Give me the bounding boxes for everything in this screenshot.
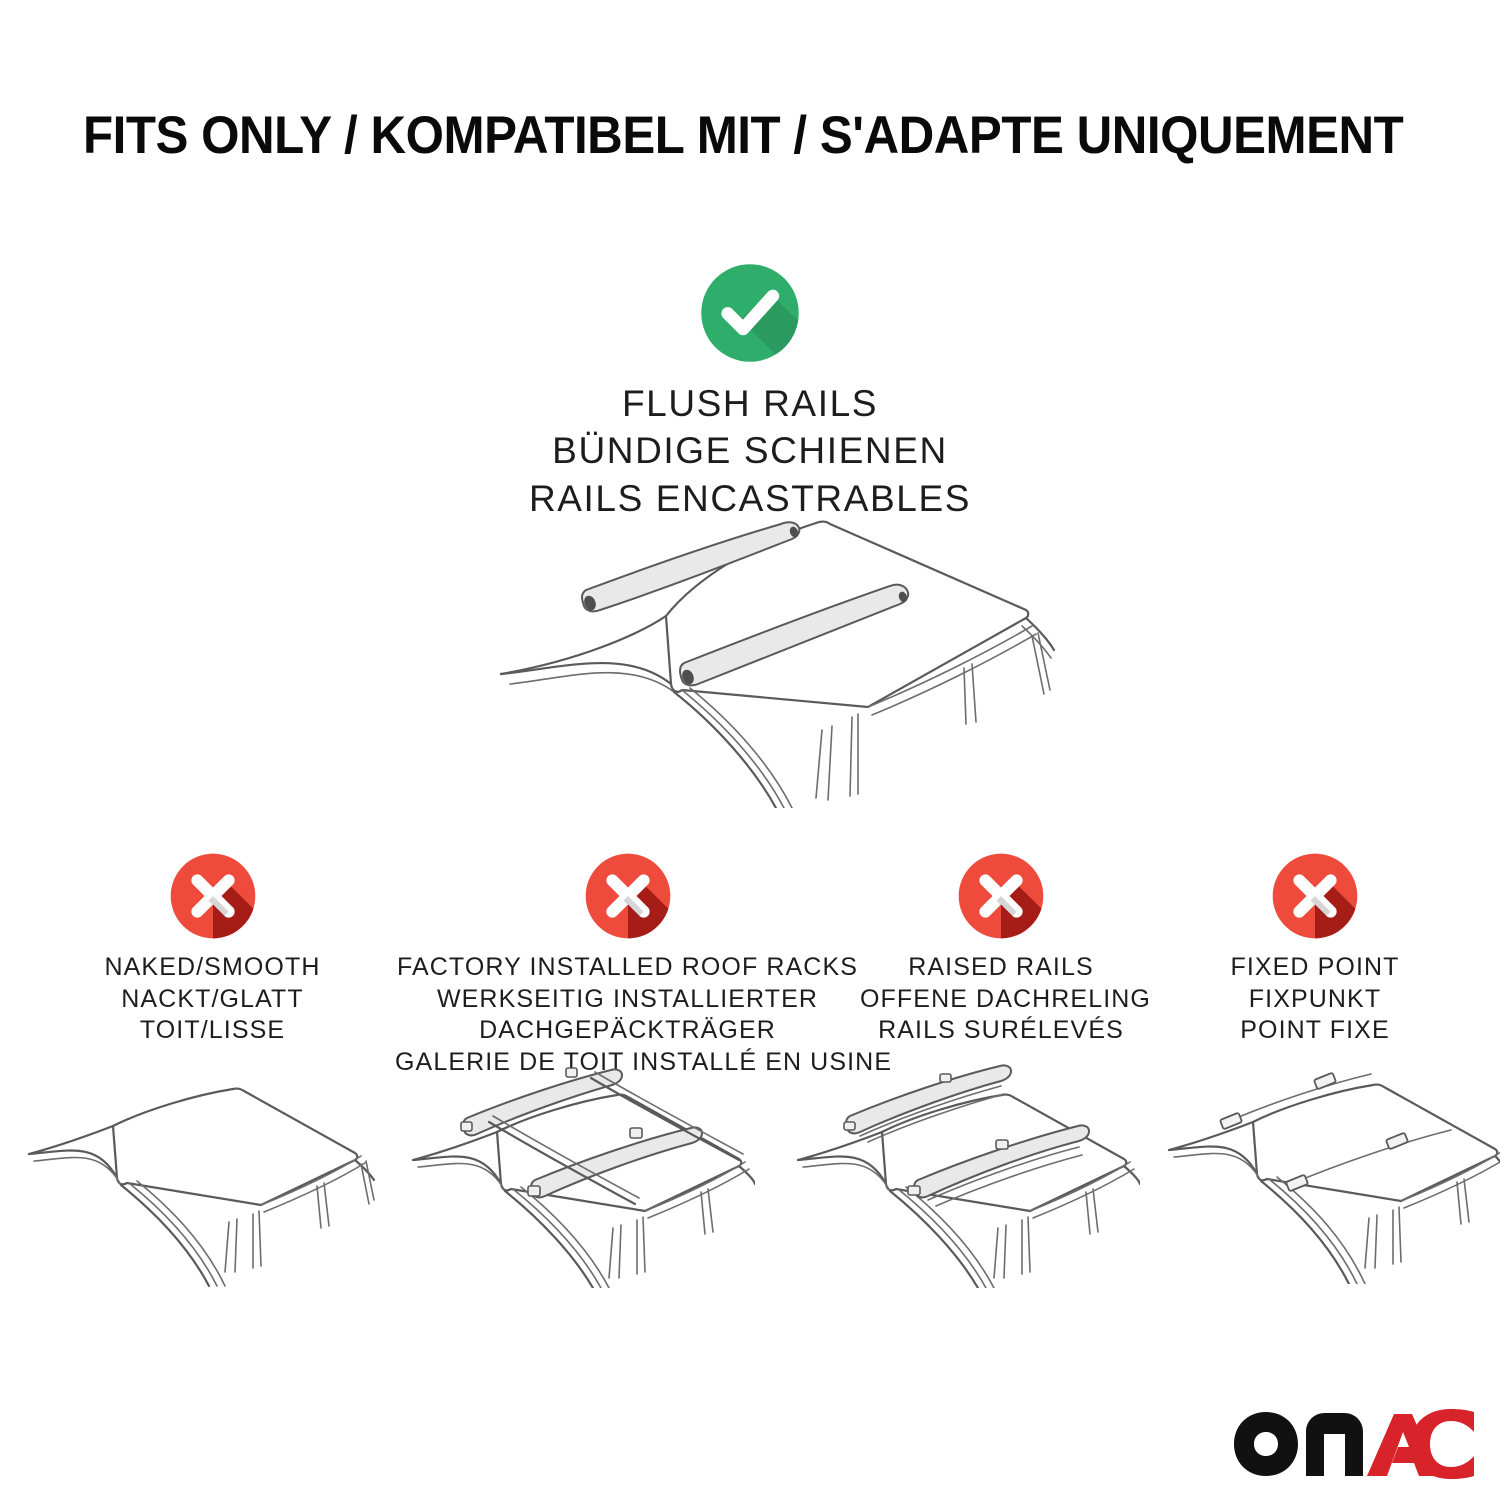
x-circle-icon xyxy=(955,850,1047,942)
car-roof-naked-illustration xyxy=(25,1068,375,1288)
compatible-label-en: FLUSH RAILS xyxy=(0,380,1500,427)
brand-logo xyxy=(1232,1408,1476,1480)
item-labels: NAKED/SMOOTH NACKT/GLATT TOIT/LISSE xyxy=(30,952,395,1047)
car-roof-raised-rails-illustration xyxy=(790,1060,1140,1288)
x-circle-icon xyxy=(582,850,674,942)
item-label-fr: RAILS SURÉLEVÉS xyxy=(860,1015,1142,1047)
item-label-fr: POINT FIXE xyxy=(1142,1015,1488,1047)
item-label-de-2: DACHGEPÄCKTRÄGER xyxy=(395,1015,860,1047)
item-label-de: FIXPUNKT xyxy=(1142,984,1488,1016)
page-title: FITS ONLY / KOMPATIBEL MIT / S'ADAPTE UN… xyxy=(83,108,1403,164)
incompatible-item-factory-installed-roof-racks: FACTORY INSTALLED ROOF RACKS WERKSEITIG … xyxy=(395,850,860,1078)
item-label-en: FIXED POINT xyxy=(1142,952,1488,984)
incompatible-item-naked-smooth: NAKED/SMOOTH NACKT/GLATT TOIT/LISSE xyxy=(30,850,395,1047)
item-label-en: FACTORY INSTALLED ROOF RACKS xyxy=(395,952,860,984)
car-roof-flush-rails-illustration xyxy=(466,498,1056,808)
car-roof-factory-racks-illustration xyxy=(405,1060,755,1288)
item-label-fr: TOIT/LISSE xyxy=(30,1015,395,1047)
item-labels: FIXED POINT FIXPUNKT POINT FIXE xyxy=(1142,952,1488,1047)
compatible-section: FLUSH RAILS BÜNDIGE SCHIENEN RAILS ENCAS… xyxy=(0,260,1500,522)
item-label-de: NACKT/GLATT xyxy=(30,984,395,1016)
item-label-en: NAKED/SMOOTH xyxy=(30,952,395,984)
car-roof-fixed-point-illustration xyxy=(1165,1060,1500,1284)
item-label-de-1: WERKSEITIG INSTALLIERTER xyxy=(395,984,860,1016)
item-label-en: RAISED RAILS xyxy=(860,952,1142,984)
compatible-label-de: BÜNDIGE SCHIENEN xyxy=(0,427,1500,474)
incompatible-item-raised-rails: RAISED RAILS OFFENE DACHRELING RAILS SUR… xyxy=(860,850,1142,1047)
item-label-de: OFFENE DACHRELING xyxy=(860,984,1142,1016)
incompatible-item-fixed-point: FIXED POINT FIXPUNKT POINT FIXE xyxy=(1142,850,1488,1047)
omac-logo-icon xyxy=(1232,1408,1476,1480)
item-labels: RAISED RAILS OFFENE DACHRELING RAILS SUR… xyxy=(860,952,1142,1047)
x-circle-icon xyxy=(1269,850,1361,942)
x-circle-icon xyxy=(167,850,259,942)
check-circle-icon xyxy=(697,260,803,366)
incompatible-section: NAKED/SMOOTH NACKT/GLATT TOIT/LISSE FACT… xyxy=(0,850,1500,1300)
